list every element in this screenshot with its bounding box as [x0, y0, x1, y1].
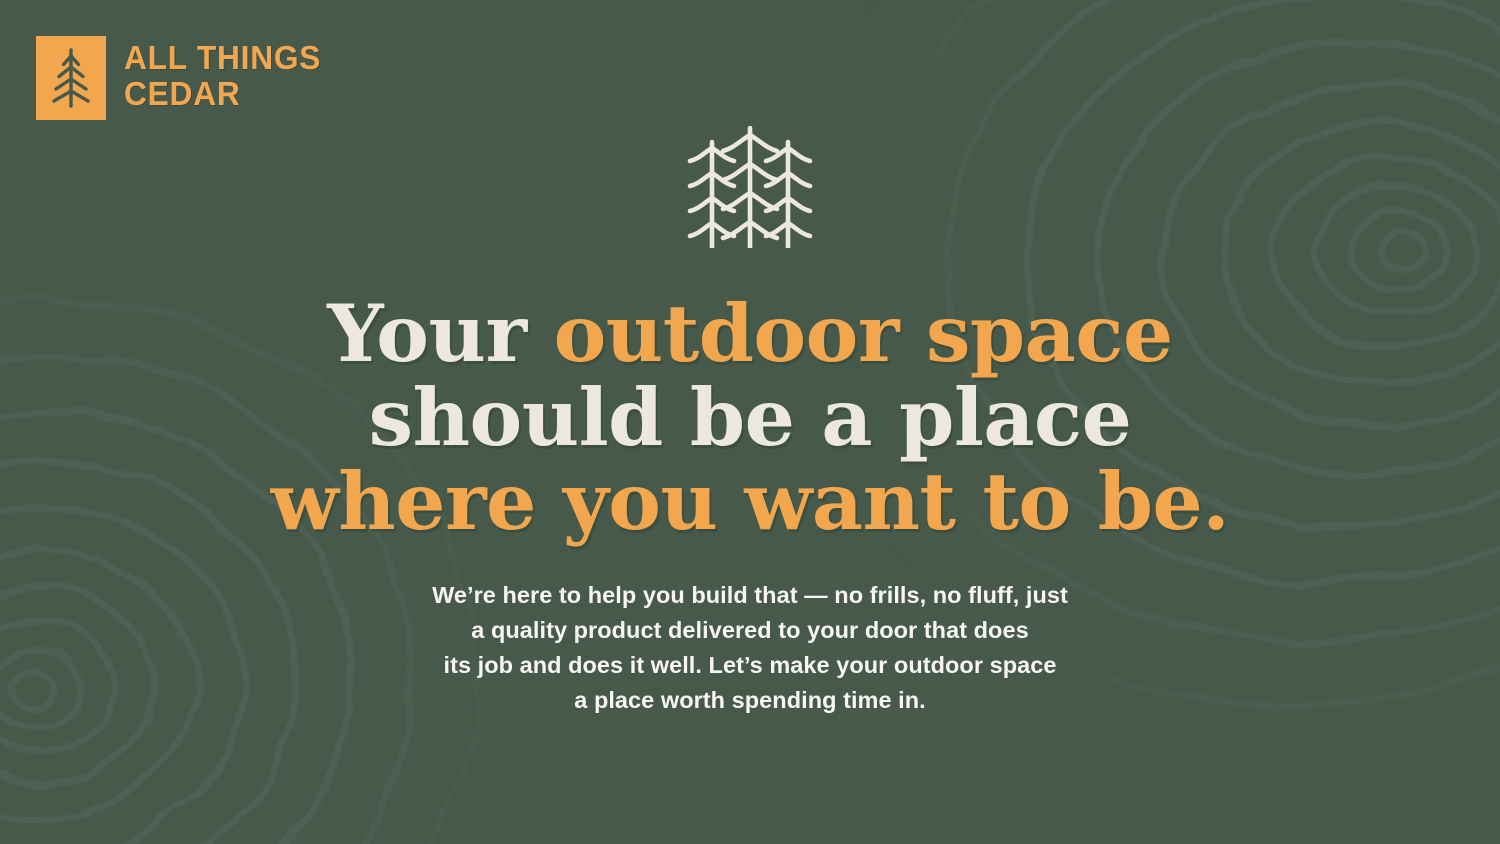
- three-pine-trees-icon: [684, 126, 816, 248]
- three-pine-trees-illustration: [0, 126, 1500, 250]
- hero-content: Your outdoor space should be a place whe…: [0, 0, 1500, 718]
- hero-banner: ALL THINGS CEDAR: [0, 0, 1500, 844]
- hero-subcopy: We’re here to help you build that — no f…: [0, 578, 1500, 718]
- subcopy-line: its job and does it well. Let’s make you…: [0, 648, 1500, 683]
- subcopy-line: a quality product delivered to your door…: [0, 613, 1500, 648]
- subcopy-line: a place worth spending time in.: [0, 683, 1500, 718]
- subcopy-line: We’re here to help you build that — no f…: [0, 578, 1500, 613]
- headline-line-3: where you want to be.: [0, 460, 1500, 544]
- headline-part-plain: Your: [327, 287, 553, 380]
- headline-part-accent: outdoor space: [554, 287, 1173, 380]
- headline-line-2: should be a place: [0, 376, 1500, 460]
- page-title: Your outdoor space should be a place whe…: [0, 292, 1500, 544]
- headline-line-1: Your outdoor space: [0, 292, 1500, 376]
